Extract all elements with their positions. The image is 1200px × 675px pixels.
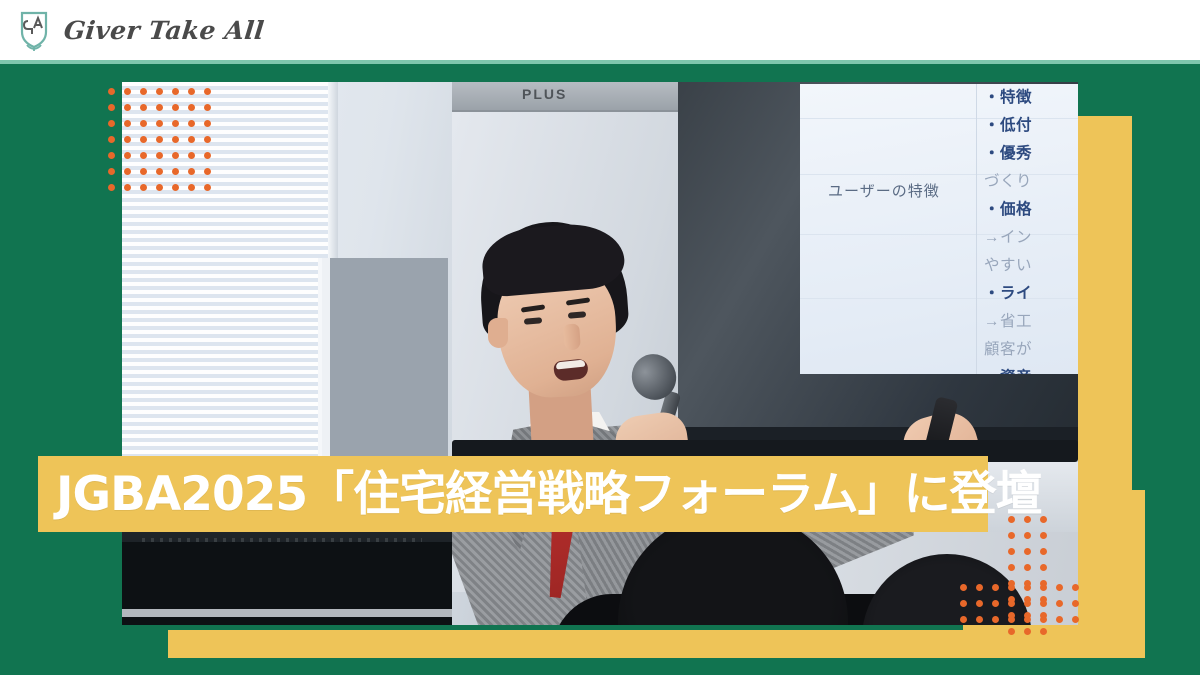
decorative-dot xyxy=(156,184,163,191)
decorative-dot xyxy=(1040,564,1047,571)
decorative-dot xyxy=(1072,616,1079,623)
decorative-dot xyxy=(140,136,147,143)
decorative-dot xyxy=(1040,584,1047,591)
hero-photo: PLUS ユーザーの特徴 ・特徴・低付・優秀づくり・価格→インやすい・ライ→省工… xyxy=(122,82,1078,625)
projector-brand-label: PLUS xyxy=(522,86,567,102)
decorative-dot xyxy=(1024,600,1031,607)
ear xyxy=(488,318,508,348)
decorative-dot xyxy=(124,120,131,127)
decorative-dot xyxy=(140,184,147,191)
decorative-dot xyxy=(108,104,115,111)
decorative-dot xyxy=(108,152,115,159)
decorative-dot xyxy=(204,88,211,95)
decorative-dot xyxy=(172,104,179,111)
decorative-dot xyxy=(156,152,163,159)
decorative-dot xyxy=(188,104,195,111)
decorative-dot xyxy=(188,168,195,175)
decorative-dot xyxy=(1040,548,1047,555)
decorative-dot xyxy=(976,584,983,591)
decorative-dot xyxy=(992,616,999,623)
decorative-dot xyxy=(1024,564,1031,571)
hero-title-band: JGBA2025「住宅経営戦略フォーラム」に登壇 xyxy=(38,456,988,532)
page-root: Giver Take All PLUS ユーザーの特徴 xyxy=(0,0,1200,675)
decorative-dot xyxy=(124,184,131,191)
slide-bullet-4: ・価格 xyxy=(984,196,1078,224)
decorative-dot xyxy=(124,152,131,159)
decorative-dot xyxy=(156,136,163,143)
decorative-dot xyxy=(156,104,163,111)
decorative-dot xyxy=(188,152,195,159)
decorative-dot xyxy=(108,184,115,191)
decorative-dot xyxy=(188,120,195,127)
brand-name: Giver Take All xyxy=(62,16,265,45)
decorative-dot xyxy=(108,136,115,143)
decorative-dot xyxy=(124,136,131,143)
slide-bullet-9: 顧客が xyxy=(984,336,1078,364)
dot-grid-top-left xyxy=(108,88,228,186)
slide-bullet-10: ・資産 xyxy=(984,364,1078,374)
decorative-dot xyxy=(172,152,179,159)
decorative-dot xyxy=(1056,616,1063,623)
decorative-dot xyxy=(960,584,967,591)
decorative-dot xyxy=(124,104,131,111)
decorative-dot xyxy=(1040,616,1047,623)
decorative-dot xyxy=(204,120,211,127)
decorative-dot xyxy=(172,120,179,127)
slide-bullet-3: づくり xyxy=(984,168,1078,196)
slide-bullet-list: ・特徴・低付・優秀づくり・価格→インやすい・ライ→省工顧客が・資産却やリ xyxy=(984,84,1078,374)
decorative-dot xyxy=(1008,600,1015,607)
decorative-dot xyxy=(172,184,179,191)
decorative-dot xyxy=(188,184,195,191)
photo-scene: PLUS ユーザーの特徴 ・特徴・低付・優秀づくり・価格→インやすい・ライ→省工… xyxy=(122,82,1078,625)
decorative-dot xyxy=(1056,600,1063,607)
decorative-dot xyxy=(124,88,131,95)
decorative-dot xyxy=(1040,532,1047,539)
decorative-dot xyxy=(156,168,163,175)
slide-bullet-5: →イン xyxy=(984,224,1078,252)
decorative-dot xyxy=(188,88,195,95)
nose xyxy=(563,323,581,350)
decorative-dot xyxy=(1024,584,1031,591)
decorative-dot xyxy=(960,600,967,607)
decorative-dot xyxy=(1024,532,1031,539)
site-header: Giver Take All xyxy=(0,0,1200,60)
decorative-dot xyxy=(204,152,211,159)
slide-bullet-6: やすい xyxy=(984,252,1078,280)
equipment-shelf xyxy=(122,609,452,617)
decorative-dot xyxy=(204,104,211,111)
page-title: JGBA2025「住宅経営戦略フォーラム」に登壇 xyxy=(38,471,1042,518)
decorative-dot xyxy=(976,616,983,623)
decorative-dot xyxy=(1008,548,1015,555)
decorative-dot xyxy=(140,152,147,159)
decorative-dot xyxy=(108,120,115,127)
decorative-dot xyxy=(156,120,163,127)
decorative-dot xyxy=(172,88,179,95)
decorative-dot xyxy=(992,600,999,607)
decorative-dot xyxy=(204,136,211,143)
decorative-dot xyxy=(204,168,211,175)
dot-grid-bottom-right-horizontal xyxy=(960,584,1084,646)
gold-accent-right xyxy=(1076,116,1132,532)
slide-bullet-1: ・低付 xyxy=(984,112,1078,140)
slide-column-divider xyxy=(976,84,977,374)
decorative-dot xyxy=(1024,548,1031,555)
decorative-dot xyxy=(124,168,131,175)
tulip-shield-logo-icon xyxy=(14,8,54,52)
decorative-dot xyxy=(1008,584,1015,591)
slide-bullet-7: ・ライ xyxy=(984,280,1078,308)
decorative-dot xyxy=(172,168,179,175)
decorative-dot xyxy=(108,168,115,175)
decorative-dot xyxy=(156,88,163,95)
decorative-dot xyxy=(1072,584,1079,591)
decorative-dot xyxy=(976,600,983,607)
header-divider xyxy=(0,60,1200,64)
decorative-dot xyxy=(1072,600,1079,607)
decorative-dot xyxy=(140,104,147,111)
decorative-dot xyxy=(1040,600,1047,607)
decorative-dot xyxy=(140,88,147,95)
decorative-dot xyxy=(960,616,967,623)
decorative-dot xyxy=(1056,584,1063,591)
slide-bullet-8: →省工 xyxy=(984,308,1078,336)
decorative-dot xyxy=(1024,616,1031,623)
brand-lockup[interactable]: Giver Take All xyxy=(14,8,264,52)
decorative-dot xyxy=(188,136,195,143)
decorative-dot xyxy=(140,120,147,127)
slide-bullet-0: ・特徴 xyxy=(984,84,1078,112)
decorative-dot xyxy=(1008,564,1015,571)
slide-bullet-2: ・優秀 xyxy=(984,140,1078,168)
decorative-dot xyxy=(1008,616,1015,623)
decorative-dot xyxy=(172,136,179,143)
decorative-dot xyxy=(992,584,999,591)
decorative-dot xyxy=(108,88,115,95)
decorative-dot xyxy=(204,184,211,191)
decorative-dot xyxy=(1008,532,1015,539)
decorative-dot xyxy=(140,168,147,175)
